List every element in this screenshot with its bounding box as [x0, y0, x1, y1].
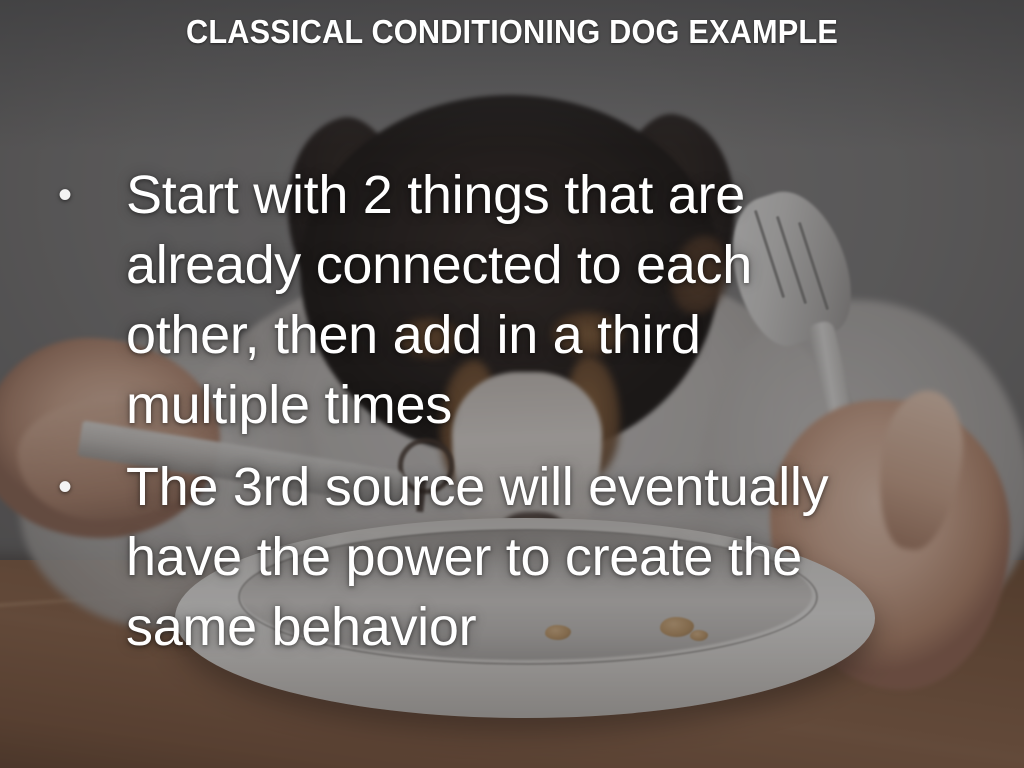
bullet-marker-icon: • — [46, 452, 126, 522]
bullet-item-1: • Start with 2 things that are already c… — [46, 160, 984, 440]
bullet-text-1: Start with 2 things that are already con… — [126, 160, 886, 440]
slide-title: CLASSICAL CONDITIONING DOG EXAMPLE — [36, 13, 988, 51]
bullet-text-2: The 3rd source will eventually have the … — [126, 452, 886, 662]
bullet-item-2: • The 3rd source will eventually have th… — [46, 452, 984, 662]
slide-content: CLASSICAL CONDITIONING DOG EXAMPLE • Sta… — [0, 0, 1024, 768]
presentation-slide: CLASSICAL CONDITIONING DOG EXAMPLE • Sta… — [0, 0, 1024, 768]
bullet-list: • Start with 2 things that are already c… — [46, 160, 984, 674]
bullet-marker-icon: • — [46, 160, 126, 230]
